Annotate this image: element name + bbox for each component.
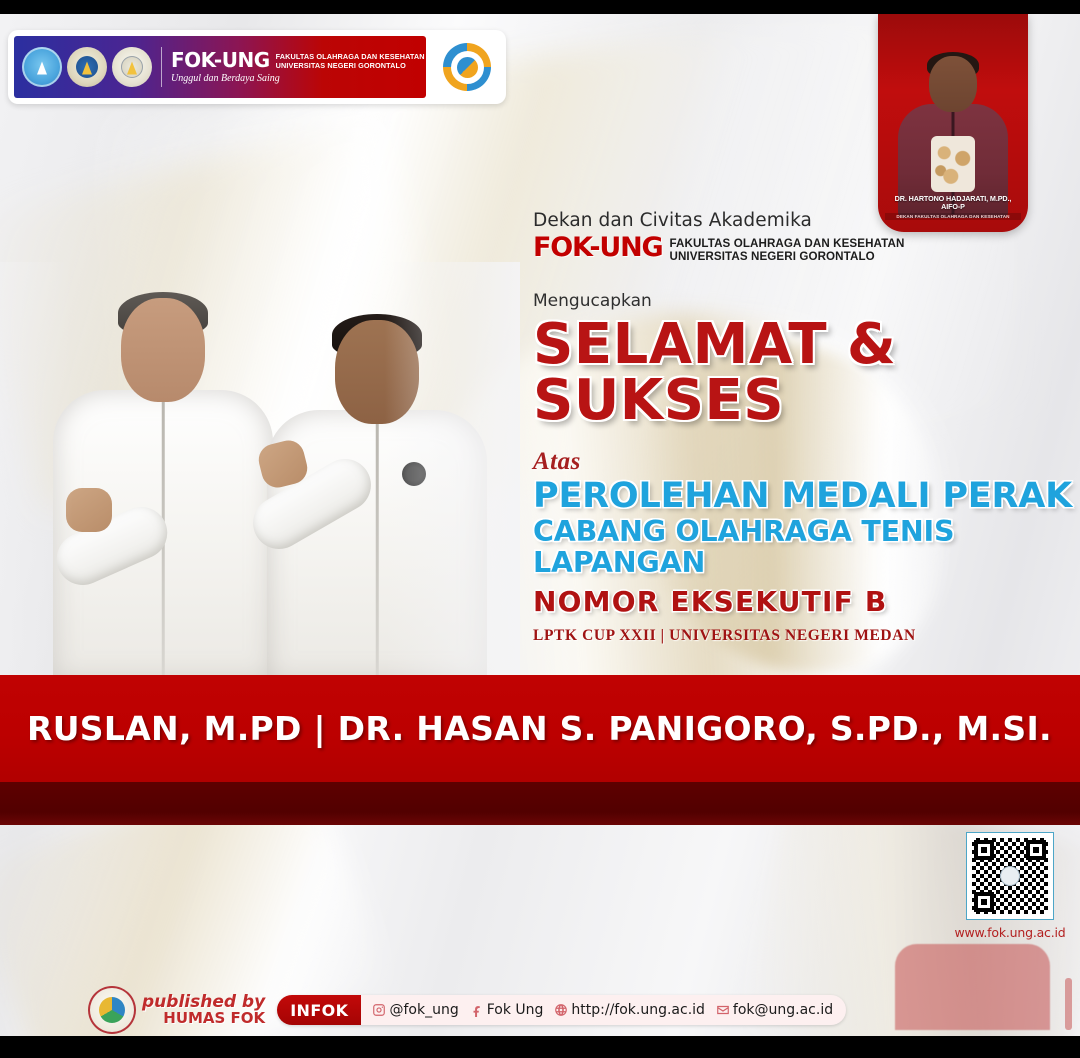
header-gradient-bar: FOK-UNG FAKULTAS OLAHRAGA DAN KESEHATAN … <box>14 36 426 98</box>
top-letterbox <box>0 0 1080 14</box>
qr-finder-top-right <box>1026 840 1046 860</box>
decorative-pink-bar <box>1065 978 1072 1030</box>
achievement-line-3: NOMOR EKSEKUTIF B <box>533 585 1078 618</box>
poster-canvas: FOK-UNG FAKULTAS OLAHRAGA DAN KESEHATAN … <box>0 14 1080 1036</box>
headline: SELAMAT & SUKSES <box>533 317 1078 428</box>
achievement-line-1: PEROLEHAN MEDALI PERAK <box>533 478 1078 514</box>
over-label: Atas <box>533 448 1078 476</box>
facebook-page-name: Fok Ung <box>487 1002 544 1018</box>
footer-bar: published by HUMAS FOK INFOK @fok_ung <box>88 986 846 1034</box>
diktisaintek-badge <box>436 36 498 98</box>
ung-flame-icon <box>82 61 92 74</box>
dean-head <box>929 56 977 112</box>
instagram-handle: @fok_ung <box>389 1002 458 1018</box>
header-brand-abbr: FOK-UNG <box>171 50 270 70</box>
achievement-line-2: CABANG OLAHRAGA TENIS LAPANGAN <box>533 516 1078 579</box>
copy-faculty-line-1: FAKULTAS OLAHRAGA DAN KESEHATAN <box>669 237 904 250</box>
athlete-right-zipper <box>376 420 379 682</box>
message-block: Dekan dan Civitas Akademika FOK-UNG FAKU… <box>533 210 1078 645</box>
athlete-left-figure <box>38 282 288 682</box>
headline-line-2: SUKSES <box>533 373 1078 428</box>
congratulations-poster: FOK-UNG FAKULTAS OLAHRAGA DAN KESEHATAN … <box>0 0 1080 1058</box>
tut-wuri-handayani-seal-icon <box>22 47 62 87</box>
humas-fok-seal-icon <box>88 986 136 1034</box>
facebook-link[interactable]: Fok Ung <box>470 1002 544 1018</box>
dean-batik-pattern <box>931 136 975 192</box>
tut-wuri-flame-icon <box>37 61 47 74</box>
social-links: @fok_ung Fok Ung http://fok.ung.ac.id <box>361 1002 846 1018</box>
header-tagline: Unggul dan Berdaya Saing <box>171 73 425 84</box>
decorative-pink-panel <box>895 944 1050 1030</box>
dean-portrait-card: DR. HARTONO HADJARATI, M.PD., AIFO-P DEK… <box>878 14 1028 232</box>
header-brand-block: FOK-UNG FAKULTAS OLAHRAGA DAN KESEHATAN … <box>171 50 425 83</box>
akreditasi-flame-icon <box>127 61 137 74</box>
website-url: http://fok.ung.ac.id <box>571 1002 705 1018</box>
bottom-letterbox <box>0 1036 1080 1058</box>
email-icon <box>716 1003 730 1017</box>
copy-faculty-line-2: UNIVERSITAS NEGERI GORONTALO <box>669 250 874 263</box>
athlete-right-head <box>335 320 419 424</box>
diktisaintek-swoosh-icon <box>457 57 478 78</box>
header-faculty-lines: FAKULTAS OLAHRAGA DAN KESEHATAN UNIVERSI… <box>276 53 425 70</box>
instagram-icon <box>372 1003 386 1017</box>
athlete-right-figure <box>252 290 502 682</box>
infok-contact-pill: INFOK @fok_ung Fok Ung <box>277 995 846 1025</box>
infok-label: INFOK <box>277 995 361 1025</box>
globe-icon <box>554 1003 568 1017</box>
copy-brand-abbr: FOK-UNG <box>533 235 662 261</box>
event-label: LPTK CUP XXII | UNIVERSITAS NEGERI MEDAN <box>533 627 1078 645</box>
diktisaintek-ring-icon <box>443 43 491 91</box>
header-faculty-line-2: UNIVERSITAS NEGERI GORONTALO <box>276 61 406 70</box>
qr-block[interactable]: www.fok.ung.ac.id <box>954 832 1066 940</box>
instagram-link[interactable]: @fok_ung <box>372 1002 458 1018</box>
dean-nameplate: DR. HARTONO HADJARATI, M.PD., AIFO-P DEK… <box>885 195 1021 220</box>
akreditasi-seal-icon <box>112 47 152 87</box>
header-divider <box>161 47 162 87</box>
athlete-left-fist <box>66 488 112 532</box>
header-logo-bar: FOK-UNG FAKULTAS OLAHRAGA DAN KESEHATAN … <box>8 30 506 104</box>
email-address: fok@ung.ac.id <box>733 1002 833 1018</box>
athletes-photo <box>0 262 520 682</box>
header-brand-row: FOK-UNG FAKULTAS OLAHRAGA DAN KESEHATAN … <box>171 50 425 70</box>
copy-brand-row: FOK-UNG FAKULTAS OLAHRAGA DAN KESEHATAN … <box>533 235 1078 263</box>
qr-finder-bottom-left <box>974 892 994 912</box>
facebook-icon <box>470 1003 484 1017</box>
winner-names: RUSLAN, M.PD | DR. HASAN S. PANIGORO, S.… <box>27 709 1052 748</box>
qr-code-frame[interactable] <box>966 832 1054 920</box>
saying-label: Mengucapkan <box>533 291 1078 311</box>
universitas-negeri-gorontalo-seal-icon <box>67 47 107 87</box>
dean-figure <box>890 40 1016 218</box>
jacket-emblem-icon <box>402 462 426 486</box>
humas-fok-label: HUMAS FOK <box>142 1011 265 1026</box>
email-link[interactable]: fok@ung.ac.id <box>716 1002 833 1018</box>
athlete-left-head <box>121 298 205 402</box>
qr-center-logo-icon <box>1000 866 1020 886</box>
dean-role: DEKAN FAKULTAS OLAHRAGA DAN KESEHATAN <box>885 213 1021 220</box>
dark-red-band <box>0 782 1080 825</box>
diktisaintek-core-icon <box>451 51 484 84</box>
dean-name: DR. HARTONO HADJARATI, M.PD., AIFO-P <box>885 195 1021 211</box>
qr-finder-top-left <box>974 840 994 860</box>
published-by-block: published by HUMAS FOK <box>142 994 265 1027</box>
copy-faculty-lines: FAKULTAS OLAHRAGA DAN KESEHATAN UNIVERSI… <box>669 237 904 263</box>
qr-code-icon[interactable] <box>972 838 1048 914</box>
website-link[interactable]: http://fok.ung.ac.id <box>554 1002 705 1018</box>
qr-caption: www.fok.ung.ac.id <box>954 925 1066 940</box>
winner-name-band: RUSLAN, M.PD | DR. HASAN S. PANIGORO, S.… <box>0 675 1080 782</box>
humas-seal-core-icon <box>99 997 125 1023</box>
